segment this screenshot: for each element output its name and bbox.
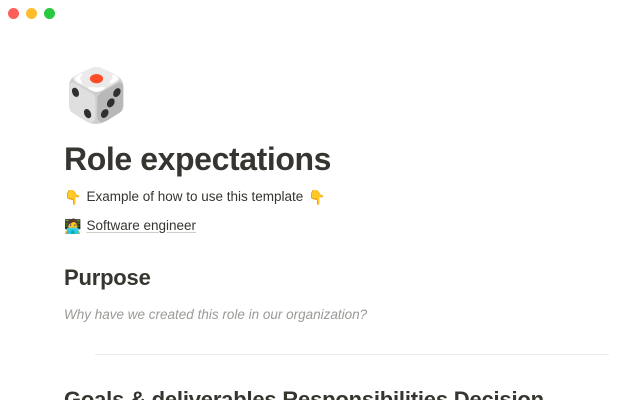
pointing-down-icon-left: 👇 bbox=[64, 187, 81, 207]
technologist-icon: 🧑‍💻 bbox=[64, 216, 81, 236]
page-title: Role expectations bbox=[64, 140, 640, 178]
minimize-window-button[interactable] bbox=[26, 8, 37, 19]
close-window-button[interactable] bbox=[8, 8, 19, 19]
section-divider bbox=[95, 354, 609, 355]
document-content: 🎲 Role expectations 👇 Example of how to … bbox=[0, 68, 640, 400]
section-heading-purpose: Purpose bbox=[64, 264, 640, 292]
app-window: 🎲 Role expectations 👇 Example of how to … bbox=[0, 0, 640, 400]
maximize-window-button[interactable] bbox=[44, 8, 55, 19]
document-scroll-area[interactable]: 🎲 Role expectations 👇 Example of how to … bbox=[0, 26, 640, 400]
dice-icon[interactable]: 🎲 bbox=[64, 68, 640, 124]
purpose-hint-text: Why have we created this role in our org… bbox=[64, 305, 640, 325]
section-heading-goals-responsibilities-decisions: Goals & deliverables Responsibilities De… bbox=[64, 386, 640, 400]
role-link-software-engineer[interactable]: Software engineer bbox=[86, 216, 196, 236]
template-example-callout: 👇 Example of how to use this template 👇 bbox=[64, 187, 640, 207]
traffic-light-group bbox=[8, 8, 55, 19]
role-link-row[interactable]: 🧑‍💻 Software engineer bbox=[64, 216, 640, 236]
template-example-text: Example of how to use this template bbox=[86, 187, 303, 207]
window-titlebar bbox=[0, 0, 640, 26]
pointing-down-icon-right: 👇 bbox=[308, 187, 325, 207]
